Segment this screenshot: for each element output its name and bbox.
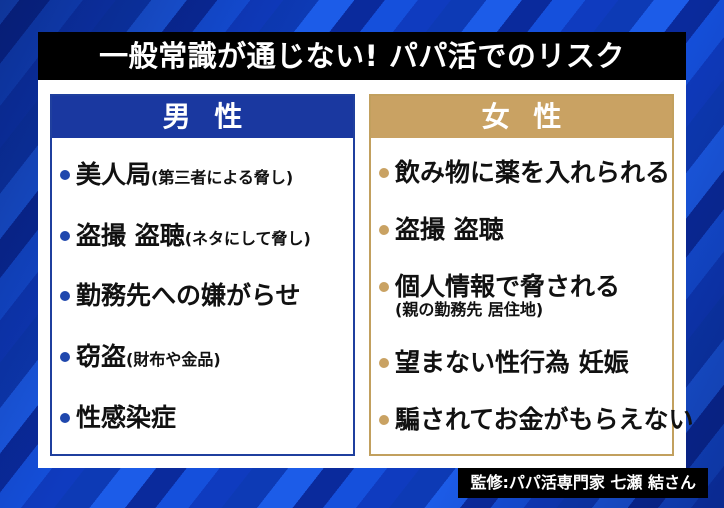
- page-title: 一般常識が通じない! パパ活でのリスク: [99, 42, 625, 71]
- list-item-content: 盗撮 盗聴(ネタにして脅し): [76, 222, 311, 249]
- bullet-icon: [60, 231, 70, 241]
- column-body-female: 飲み物に薬を入れられる 盗撮 盗聴 個人情報で脅される (親の勤務先 居住地): [371, 138, 672, 454]
- list-item-main-text: 性感染症: [76, 403, 176, 432]
- content-panel: 男 性 美人局(第三者による脅し) 盗撮 盗聴(ネタにして脅し): [38, 80, 686, 468]
- list-item-main-text: 美人局: [76, 160, 151, 189]
- list-item: 飲み物に薬を入れられる: [379, 159, 668, 186]
- infographic-stage: 一般常識が通じない! パパ活でのリスク 男 性 美人局(第三者による脅し) 盗撮…: [0, 0, 724, 508]
- list-item-main-text: 個人情報で脅される: [395, 272, 620, 301]
- list-item-content: 窃盗(財布や金品): [76, 343, 221, 370]
- column-female: 女 性 飲み物に薬を入れられる 盗撮 盗聴: [369, 94, 674, 456]
- list-item: 盗撮 盗聴(ネタにして脅し): [60, 222, 349, 249]
- column-header-male-label: 男 性: [156, 103, 250, 131]
- list-item-content: 望まない性行為 妊娠: [395, 349, 629, 376]
- list-item-note: (財布や金品): [126, 350, 221, 369]
- list-item-main-text: 騙されてお金がもらえない: [395, 405, 694, 434]
- column-body-male: 美人局(第三者による脅し) 盗撮 盗聴(ネタにして脅し) 勤務先への嫌がらせ: [52, 138, 353, 454]
- list-item: 性感染症: [60, 404, 349, 431]
- list-item-main: 美人局(第三者による脅し): [76, 161, 293, 188]
- list-item-main: 盗撮 盗聴(ネタにして脅し): [76, 222, 311, 249]
- list-item-note: (ネタにして脅し): [185, 229, 311, 248]
- title-bar: 一般常識が通じない! パパ活でのリスク: [38, 32, 686, 80]
- list-item-main-text: 飲み物に薬を入れられる: [395, 158, 670, 187]
- column-header-female-label: 女 性: [475, 103, 569, 131]
- list-item-main: 窃盗(財布や金品): [76, 343, 221, 370]
- column-header-female: 女 性: [371, 96, 672, 138]
- bullet-icon: [379, 415, 389, 425]
- list-item-note: (第三者による脅し): [151, 168, 293, 187]
- column-male: 男 性 美人局(第三者による脅し) 盗撮 盗聴(ネタにして脅し): [50, 94, 355, 456]
- list-item: 盗撮 盗聴: [379, 216, 668, 243]
- list-item-main: 騙されてお金がもらえない: [395, 406, 668, 433]
- list-item-main-text: 窃盗: [76, 342, 126, 371]
- bullet-icon: [379, 282, 389, 292]
- list-item-content: 騙されてお金がもらえない: [395, 406, 668, 433]
- bullet-icon: [60, 291, 70, 301]
- list-item-content: 美人局(第三者による脅し): [76, 161, 293, 188]
- list-item: 望まない性行為 妊娠: [379, 349, 668, 376]
- list-item-main-text: 勤務先への嫌がらせ: [76, 281, 301, 310]
- list-item-main: 勤務先への嫌がらせ: [76, 282, 301, 309]
- list-item-main: 望まない性行為 妊娠: [395, 349, 629, 376]
- list-item-main: 飲み物に薬を入れられる: [395, 159, 668, 186]
- list-item-main: 個人情報で脅される: [395, 273, 620, 300]
- list-item-content: 勤務先への嫌がらせ: [76, 282, 301, 309]
- list-item-main-text: 盗撮 盗聴: [395, 215, 504, 244]
- list-item: 美人局(第三者による脅し): [60, 161, 349, 188]
- list-item-content: 飲み物に薬を入れられる: [395, 159, 668, 186]
- credit-bar: 監修:パパ活専門家 七瀬 結さん: [458, 468, 708, 498]
- bullet-icon: [60, 413, 70, 423]
- list-item-main: 盗撮 盗聴: [395, 216, 504, 243]
- bullet-icon: [60, 352, 70, 362]
- credit-text: 監修:パパ活専門家 七瀬 結さん: [470, 473, 696, 492]
- bullet-icon: [379, 168, 389, 178]
- list-item: 勤務先への嫌がらせ: [60, 282, 349, 309]
- bullet-icon: [379, 225, 389, 235]
- list-item: 騙されてお金がもらえない: [379, 406, 668, 433]
- list-item-content: 個人情報で脅される (親の勤務先 居住地): [395, 273, 620, 319]
- bullet-icon: [379, 358, 389, 368]
- list-item-main-text: 盗撮 盗聴: [76, 221, 185, 250]
- list-item-content: 性感染症: [76, 404, 176, 431]
- list-item: 個人情報で脅される (親の勤務先 居住地): [379, 273, 668, 319]
- list-item-main: 性感染症: [76, 404, 176, 431]
- bullet-icon: [60, 170, 70, 180]
- list-item-content: 盗撮 盗聴: [395, 216, 504, 243]
- list-item-subnote: (親の勤務先 居住地): [395, 301, 620, 319]
- list-item: 窃盗(財布や金品): [60, 343, 349, 370]
- list-item-main-text: 望まない性行為 妊娠: [395, 348, 629, 377]
- column-header-male: 男 性: [52, 96, 353, 138]
